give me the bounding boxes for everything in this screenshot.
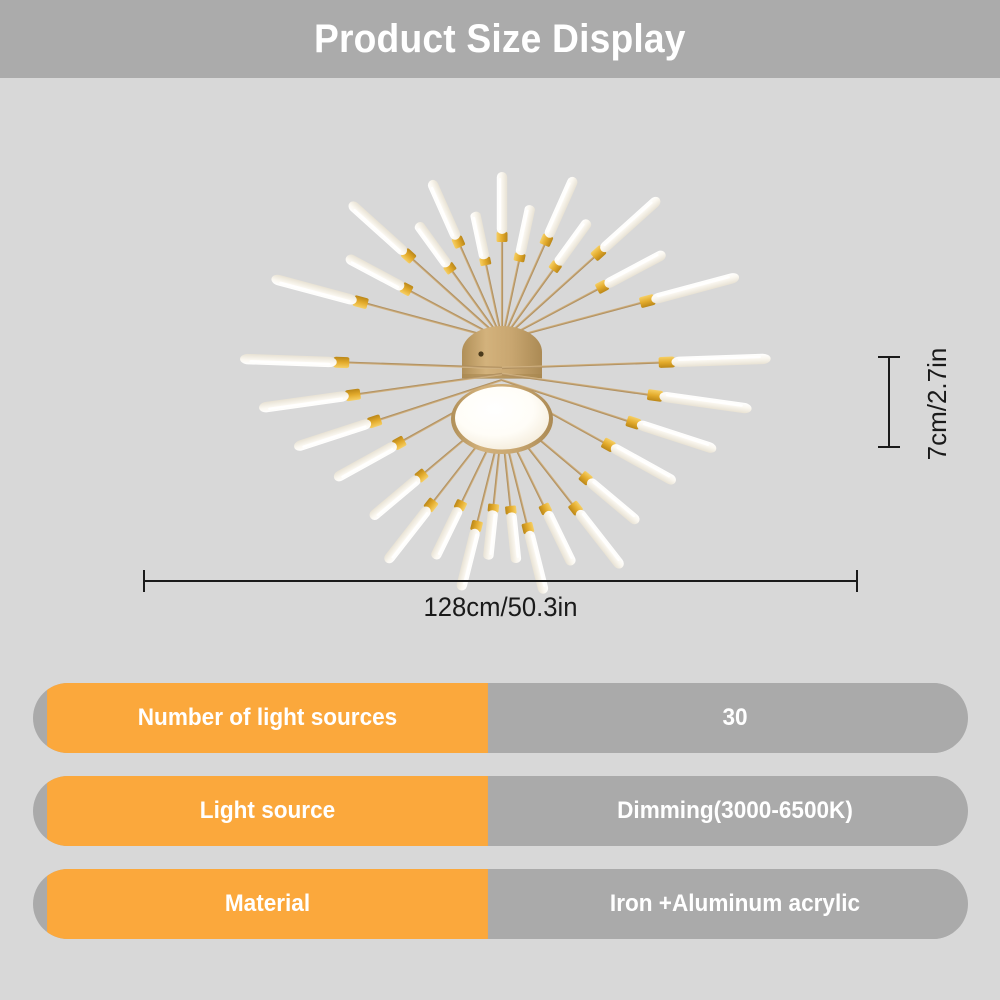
height-dimension-cap-bottom — [878, 446, 900, 448]
chandelier-arms-upper — [270, 172, 740, 345]
specification-list: Number of light sources 30 Light source … — [33, 683, 968, 939]
header-bar: Product Size Display — [0, 0, 1000, 78]
height-dimension-line — [888, 356, 889, 448]
spec-row: Material Iron +Aluminum acrylic — [33, 869, 968, 939]
spec-row: Light source Dimming(3000-6500K) — [33, 776, 968, 846]
canopy-mount — [462, 326, 542, 379]
width-dimension-line — [143, 580, 858, 581]
page-title: Product Size Display — [314, 17, 686, 62]
spec-row: Number of light sources 30 — [33, 683, 968, 753]
center-diffuser-disc — [451, 384, 553, 454]
height-dimension-cap-top — [878, 356, 900, 358]
product-illustration-stage: 128cm/50.3in 7cm/2.7in — [0, 78, 1000, 658]
spec-label-material: Material — [47, 869, 488, 939]
spec-value-number-of-light-sources: 30 — [516, 683, 954, 753]
spec-label-number-of-light-sources: Number of light sources — [47, 683, 488, 753]
width-dimension-cap-right — [856, 570, 858, 592]
width-dimension-label: 128cm/50.3in — [161, 592, 840, 623]
firework-chandelier-illustration — [0, 78, 1000, 658]
spec-value-material: Iron +Aluminum acrylic — [516, 869, 954, 939]
spec-label-light-source: Light source — [47, 776, 488, 846]
width-dimension-cap-left — [143, 570, 145, 592]
height-dimension-label: 7cm/2.7in — [922, 324, 953, 484]
height-dimension-rule — [888, 356, 890, 448]
width-dimension-rule — [143, 580, 858, 582]
spec-value-light-source: Dimming(3000-6500K) — [516, 776, 954, 846]
